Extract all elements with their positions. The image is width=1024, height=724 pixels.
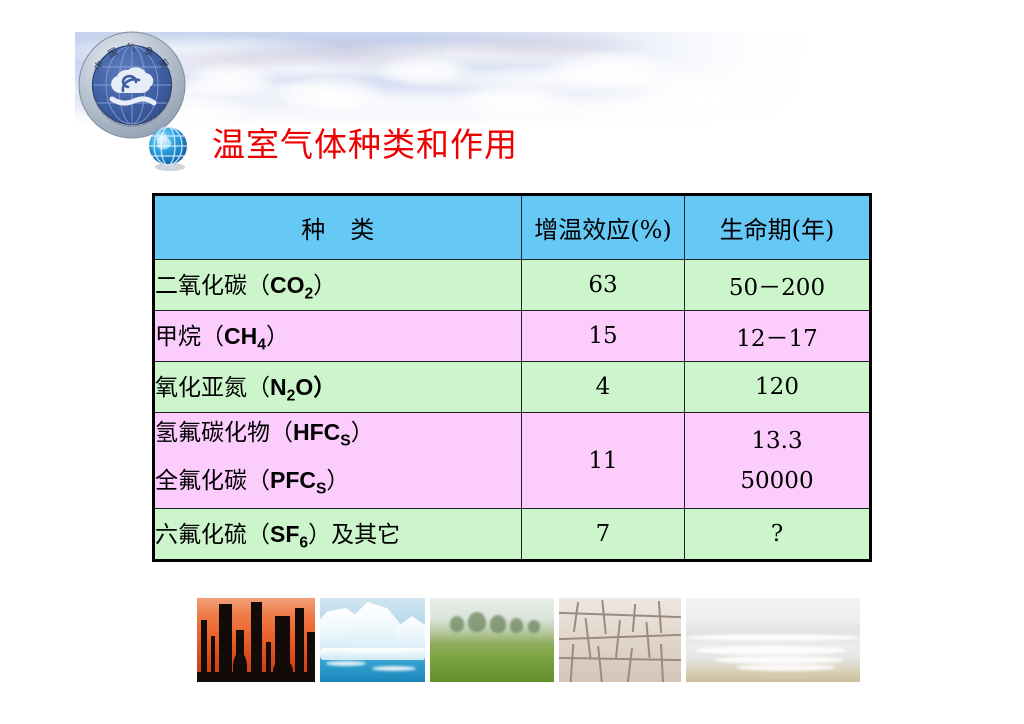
surf-line xyxy=(696,646,846,655)
kind-formula-sub-2: S xyxy=(316,480,326,497)
smokestack xyxy=(219,604,232,682)
table-row: 甲烷（CH4） 15 12－17 xyxy=(154,311,871,362)
kind-formula-sub: 4 xyxy=(257,337,266,354)
cell-warming-effect: 7 xyxy=(522,509,685,561)
table-row: 二氧化碳（CO2） 63 50－200 xyxy=(154,260,871,311)
ice-shelf xyxy=(320,648,426,660)
surf-line xyxy=(714,656,844,664)
kind-text-post: ） xyxy=(266,324,289,350)
photo-seashore xyxy=(686,598,860,682)
kind-formula-2: PFC xyxy=(270,467,316,493)
table-header-row: 种 类 增温效应(%) 生命期(年) xyxy=(154,195,871,260)
table-row: 氧化亚氮（N2O） 4 120 xyxy=(154,362,871,413)
lifetime-line-2: 50000 xyxy=(685,461,869,501)
sea-foam xyxy=(326,661,366,666)
kind-text-post: O） xyxy=(295,374,336,400)
kind-formula-sub: 6 xyxy=(299,535,308,552)
cell-gas-kind: 氢氟碳化物（HFCS） 全氟化碳（PFCS） xyxy=(154,413,522,509)
kind-text-2: 全氟化碳（ xyxy=(155,468,270,494)
kind-text: 氢氟碳化物（ xyxy=(155,420,293,446)
photo-cracked-dry-earth xyxy=(559,598,681,682)
kind-text-post: ） xyxy=(313,273,336,299)
photo-iceberg xyxy=(320,598,426,682)
cell-lifetime: 12－17 xyxy=(685,311,871,362)
kind-formula-sub: S xyxy=(340,433,350,450)
photo-misty-green-field xyxy=(430,598,554,682)
kind-formula: HFC xyxy=(293,419,340,445)
kind-text: 六氟化硫（ xyxy=(155,522,270,548)
tree xyxy=(468,612,486,632)
cell-warming-effect: 63 xyxy=(522,260,685,311)
kind-line-2: 全氟化碳（PFCS） xyxy=(155,461,521,509)
tree xyxy=(510,618,523,633)
tree xyxy=(490,615,506,633)
column-header-kind: 种 类 xyxy=(154,195,522,260)
globe-icon xyxy=(141,120,197,176)
greenhouse-gas-table: 种 类 增温效应(%) 生命期(年) 二氧化碳（CO2） 63 50－200 甲… xyxy=(152,193,872,562)
kind-formula: CH xyxy=(224,323,257,349)
photo-industrial-smokestacks xyxy=(197,598,315,682)
kind-formula: CO xyxy=(270,272,305,298)
kind-text: 二氧化碳（ xyxy=(155,273,270,299)
cell-gas-kind: 二氧化碳（CO2） xyxy=(154,260,522,311)
cell-lifetime: 13.3 50000 xyxy=(685,413,871,509)
smokestack xyxy=(295,608,304,682)
cell-warming-effect: 11 xyxy=(522,413,685,509)
kind-text-post: ）及其它 xyxy=(308,522,400,548)
lifetime-line-1: 13.3 xyxy=(685,421,869,461)
page-title: 温室气体种类和作用 xyxy=(212,123,518,167)
cell-gas-kind: 氧化亚氮（N2O） xyxy=(154,362,522,413)
photo-strip xyxy=(197,598,860,682)
sky-cloud-banner xyxy=(75,32,935,130)
sea-foam xyxy=(372,666,416,671)
column-header-effect: 增温效应(%) xyxy=(522,195,685,260)
cell-warming-effect: 4 xyxy=(522,362,685,413)
surf-line xyxy=(736,664,836,671)
kind-line-1: 氢氟碳化物（HFCS） xyxy=(155,413,521,461)
ground-line xyxy=(197,672,315,682)
kind-formula: N xyxy=(270,374,287,400)
surf-line xyxy=(686,634,860,641)
cell-gas-kind: 甲烷（CH4） xyxy=(154,311,522,362)
table-row: 氢氟碳化物（HFCS） 全氟化碳（PFCS） 11 13.3 50000 xyxy=(154,413,871,509)
field-and-mist xyxy=(430,598,554,682)
cell-gas-kind: 六氟化硫（SF6）及其它 xyxy=(154,509,522,561)
kind-formula-sub: 2 xyxy=(305,286,314,303)
cell-lifetime: 120 xyxy=(685,362,871,413)
smokestack xyxy=(251,602,262,682)
kind-text: 氧化亚氮（ xyxy=(155,375,270,401)
kind-text-post-2: ） xyxy=(326,468,349,494)
cell-lifetime: ? xyxy=(685,509,871,561)
kind-text: 甲烷（ xyxy=(155,324,224,350)
cell-lifetime: 50－200 xyxy=(685,260,871,311)
tree xyxy=(450,616,464,632)
tree xyxy=(528,620,540,633)
cell-warming-effect: 15 xyxy=(522,311,685,362)
table-row: 六氟化硫（SF6）及其它 7 ? xyxy=(154,509,871,561)
kind-formula: SF xyxy=(270,521,299,547)
column-header-lifetime: 生命期(年) xyxy=(685,195,871,260)
kind-text-post: ） xyxy=(351,420,374,446)
